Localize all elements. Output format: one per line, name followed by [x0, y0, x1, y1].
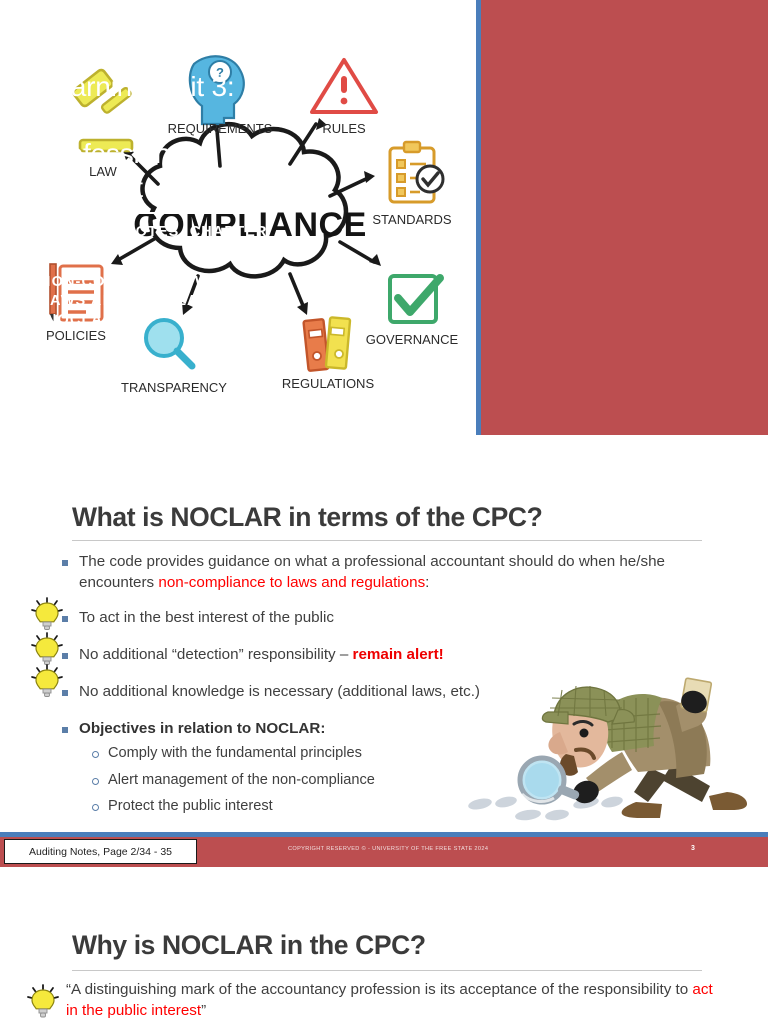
- quote-text: “A distinguishing mark of the accountanc…: [66, 980, 726, 1022]
- list-item: The code provides guidance on what a pro…: [62, 552, 722, 594]
- binders-icon: [303, 317, 350, 371]
- objective-text: Protect the public interest: [108, 797, 273, 817]
- footer-copyright: COPYRIGHT RESERVED © - UNIVERSITY OF THE…: [288, 846, 488, 852]
- circle-bullet-icon: [92, 778, 99, 785]
- list-item: No additional “detection” responsibility…: [62, 645, 722, 666]
- artwork-label-standards: STANDARDS: [372, 212, 452, 227]
- title-slide: COMPLIANCE ? REQUIREMENTS: [0, 0, 768, 435]
- slide-title-subtitle-source: AUDITING NOTES, CHAPTER 2: [40, 223, 272, 261]
- objective-text: Alert management of the non-compliance: [108, 771, 375, 791]
- artwork-label-transparency: TRANSPARENCY: [121, 380, 227, 394]
- artwork-label-governance: GOVERNANCE: [366, 332, 459, 347]
- quote-text-plain: “A distinguishing mark of the accountanc…: [66, 981, 692, 998]
- objective-text: Comply with the fundamental principles: [108, 744, 362, 764]
- objectives-label: Objectives in relation to NOCLAR:: [79, 719, 325, 740]
- slide-title-heading: Learning Unit 3: Code of Professional Co…: [40, 70, 272, 204]
- artwork-label-rules: RULES: [322, 121, 366, 136]
- bullet-text-plain: To act in the best interest of the publi…: [79, 609, 334, 626]
- circle-bullet-icon: [92, 751, 99, 758]
- checkmark-box-icon: [390, 276, 440, 322]
- title-panel-text-block: Learning Unit 3: Code of Professional Co…: [40, 70, 272, 330]
- bullet-text-highlight: remain alert!: [353, 646, 444, 663]
- why-slide: Why is NOCLAR in the CPC? “A distinguish…: [0, 884, 768, 1024]
- sherlock-holmes-detective-icon: [462, 676, 762, 828]
- lightbulb-icon: [30, 632, 64, 666]
- slide-deck-page: COMPLIANCE ? REQUIREMENTS: [0, 0, 768, 1024]
- heading-divider: [72, 540, 702, 541]
- artwork-label-regulations: REGULATIONS: [282, 376, 375, 391]
- slide-title-subtitle-topic: NON-COMPLIANCE WITH LAWS AND REGULATIONS…: [40, 273, 272, 330]
- bullet-text-tail: :: [425, 574, 429, 591]
- page-title-secondary: Why is NOCLAR in the CPC?: [72, 930, 712, 961]
- title-panel-accent-stripe: [476, 0, 481, 435]
- footer-reference-box: Auditing Notes, Page 2/34 - 35: [4, 839, 197, 864]
- lightbulb-icon: [30, 664, 64, 698]
- artwork-label-policies: POLICIES: [46, 328, 106, 343]
- footer-page-number: 3: [691, 845, 695, 852]
- lightbulb-icon: [26, 984, 60, 1020]
- bullet-text-highlight: non-compliance to laws and regulations: [158, 574, 425, 591]
- circle-bullet-icon: [92, 804, 99, 811]
- bullet-text-plain: No additional knowledge is necessary (ad…: [79, 683, 480, 700]
- heading-divider-secondary: [72, 970, 702, 971]
- title-divider: [40, 212, 258, 214]
- bullet-text: No additional knowledge is necessary (ad…: [79, 682, 480, 703]
- warning-triangle-icon: [312, 60, 376, 112]
- clipboard-check-icon: [390, 142, 443, 202]
- page-title: What is NOCLAR in terms of the CPC?: [72, 502, 712, 533]
- bullet-text: No additional “detection” responsibility…: [79, 645, 444, 666]
- bullet-text: The code provides guidance on what a pro…: [79, 552, 722, 594]
- square-bullet-icon: [62, 560, 68, 566]
- quote-text-tail: ”: [201, 1002, 206, 1019]
- square-bullet-icon: [62, 727, 68, 733]
- list-item: To act in the best interest of the publi…: [62, 608, 722, 629]
- lightbulb-icon: [30, 597, 64, 631]
- title-panel: [476, 0, 768, 435]
- bullet-text: To act in the best interest of the publi…: [79, 608, 334, 629]
- bullet-text-plain: No additional “detection” responsibility…: [79, 646, 353, 663]
